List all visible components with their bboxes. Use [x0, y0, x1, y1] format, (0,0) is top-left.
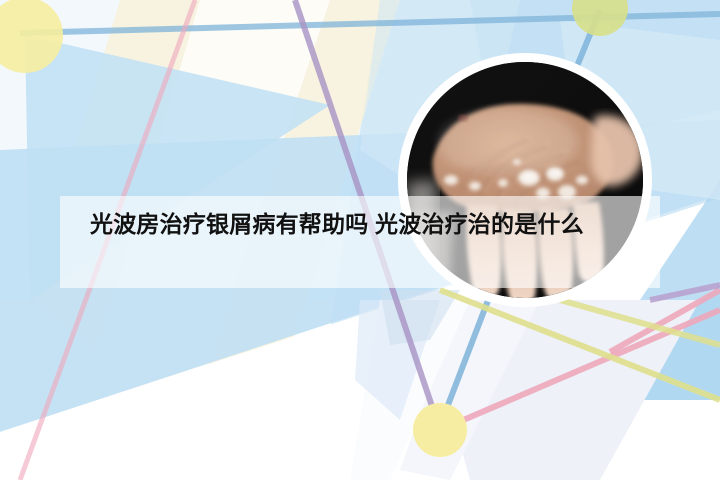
- poster-canvas: 光波房治疗银屑病有帮助吗 光波治疗治的是什么: [0, 0, 720, 480]
- circle-yellow-bottom: [413, 403, 467, 457]
- caption-title: 光波房治疗银屑病有帮助吗 光波治疗治的是什么: [90, 208, 635, 241]
